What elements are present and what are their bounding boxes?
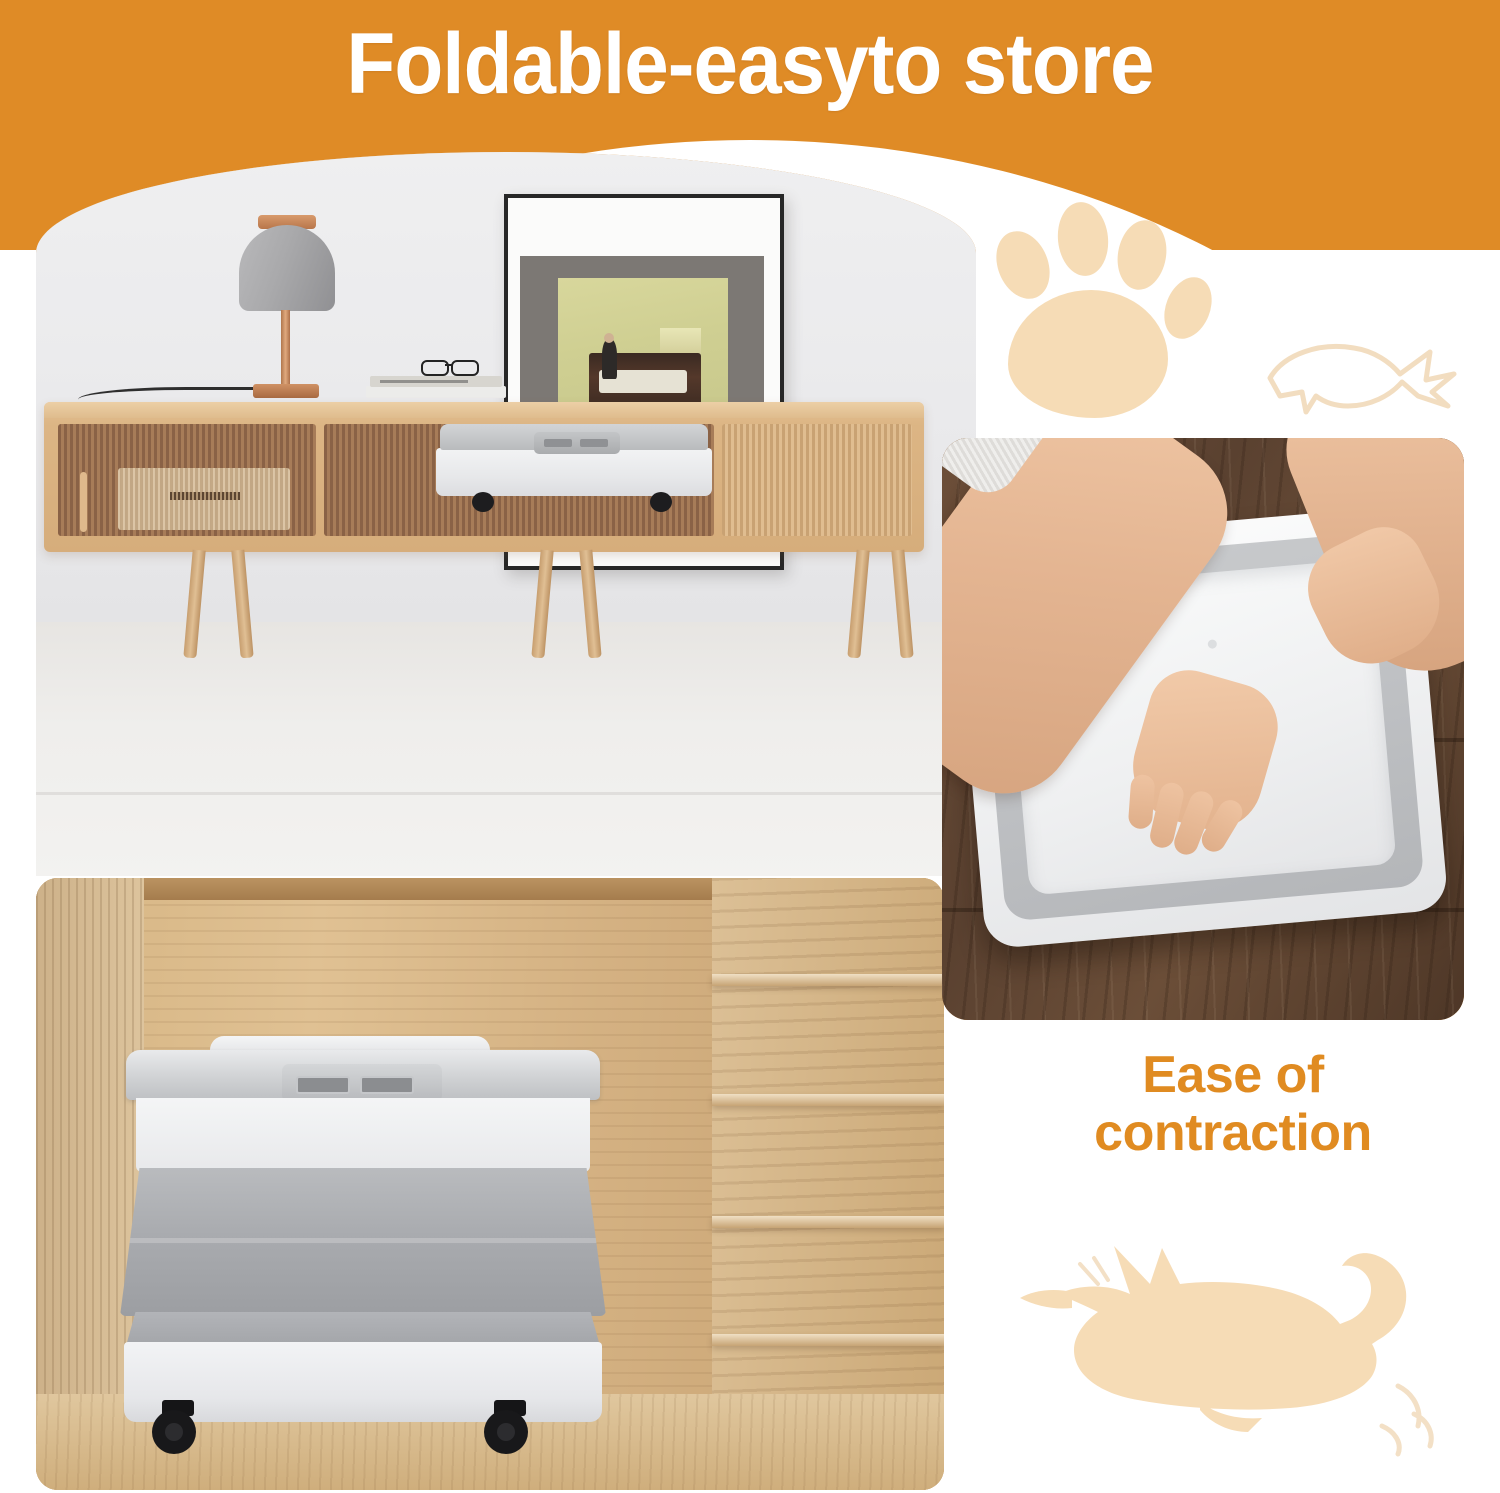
paw-toe — [1156, 270, 1221, 346]
panel-room-photo: Nygårds Karin Bengtsson Untold Stories F… — [36, 152, 976, 876]
leg — [231, 550, 253, 659]
paw-toe — [1054, 200, 1111, 279]
caster-wheel-left — [152, 1408, 198, 1454]
stored-box-handle — [534, 432, 620, 454]
floor-line — [36, 792, 976, 795]
eyeglasses-icon — [421, 358, 487, 374]
stored-box-body — [436, 448, 712, 496]
box-lower-fold — [126, 1312, 600, 1346]
sideboard-top-surface — [44, 402, 924, 418]
page-title: Foldable-easyto store — [53, 18, 1448, 111]
closet-shelf — [712, 1216, 944, 1228]
stacked-books — [366, 374, 506, 398]
basin-drain-dot — [1207, 640, 1217, 650]
closet-shelf — [712, 1334, 944, 1346]
product-infographic: Foldable-easyto store — [0, 0, 1500, 1493]
wheel-tire — [152, 1410, 196, 1454]
paw-toe — [1112, 216, 1171, 293]
book-top — [370, 376, 502, 387]
handle-slot-left — [544, 439, 572, 447]
leg — [531, 550, 553, 659]
wheel-tire — [484, 1410, 528, 1454]
caster-wheel-right — [484, 1408, 530, 1454]
lamp-stem — [281, 310, 290, 388]
poster-figure — [602, 339, 617, 379]
lying-cat-silhouette-icon — [1010, 1188, 1480, 1468]
lamp-base — [253, 384, 319, 398]
leg — [183, 550, 205, 659]
stored-collapsed-box — [436, 424, 712, 510]
lamp-shade — [239, 225, 335, 311]
handle-slot-left — [296, 1076, 350, 1094]
paw-pad — [1008, 290, 1168, 418]
paw-toe — [987, 223, 1060, 307]
sideboard-legs — [36, 550, 916, 670]
box-upper-section — [136, 1098, 590, 1172]
lens-right — [451, 360, 479, 376]
sideboard-door-left — [58, 424, 316, 536]
sideboard-handle — [80, 472, 87, 532]
lens-left — [421, 360, 449, 376]
closet-shelf — [712, 1094, 944, 1106]
callout-line-1: Ease of — [1010, 1046, 1456, 1104]
wicker-basket — [118, 468, 290, 530]
callout-ease-of-contraction: Ease of contraction — [1010, 1046, 1456, 1162]
finger — [1128, 774, 1156, 830]
closet-shelf — [712, 974, 944, 986]
book-bottom — [366, 386, 506, 398]
expanded-storage-box — [108, 1050, 618, 1456]
callout-line-2: contraction — [1010, 1104, 1456, 1162]
box-collapsible-wall — [120, 1168, 606, 1316]
stored-box-wheel-left — [472, 492, 494, 512]
poster-figure-head — [604, 333, 614, 343]
leg — [891, 550, 913, 659]
box-handle — [282, 1064, 442, 1102]
poster-artwork-scene — [558, 278, 728, 422]
room-scene: Nygårds Karin Bengtsson Untold Stories F… — [36, 152, 976, 876]
leg — [579, 550, 601, 659]
handle-slot-right — [580, 439, 608, 447]
handle-slot-right — [360, 1076, 414, 1094]
stored-box-wheel-right — [650, 492, 672, 512]
panel-closet-photo — [36, 878, 944, 1490]
paw-print-icon — [990, 196, 1250, 446]
panel-hands-photo — [942, 438, 1464, 1020]
leg — [847, 550, 869, 659]
sideboard-door-right — [722, 424, 912, 536]
fish-outline-icon — [1262, 330, 1462, 416]
